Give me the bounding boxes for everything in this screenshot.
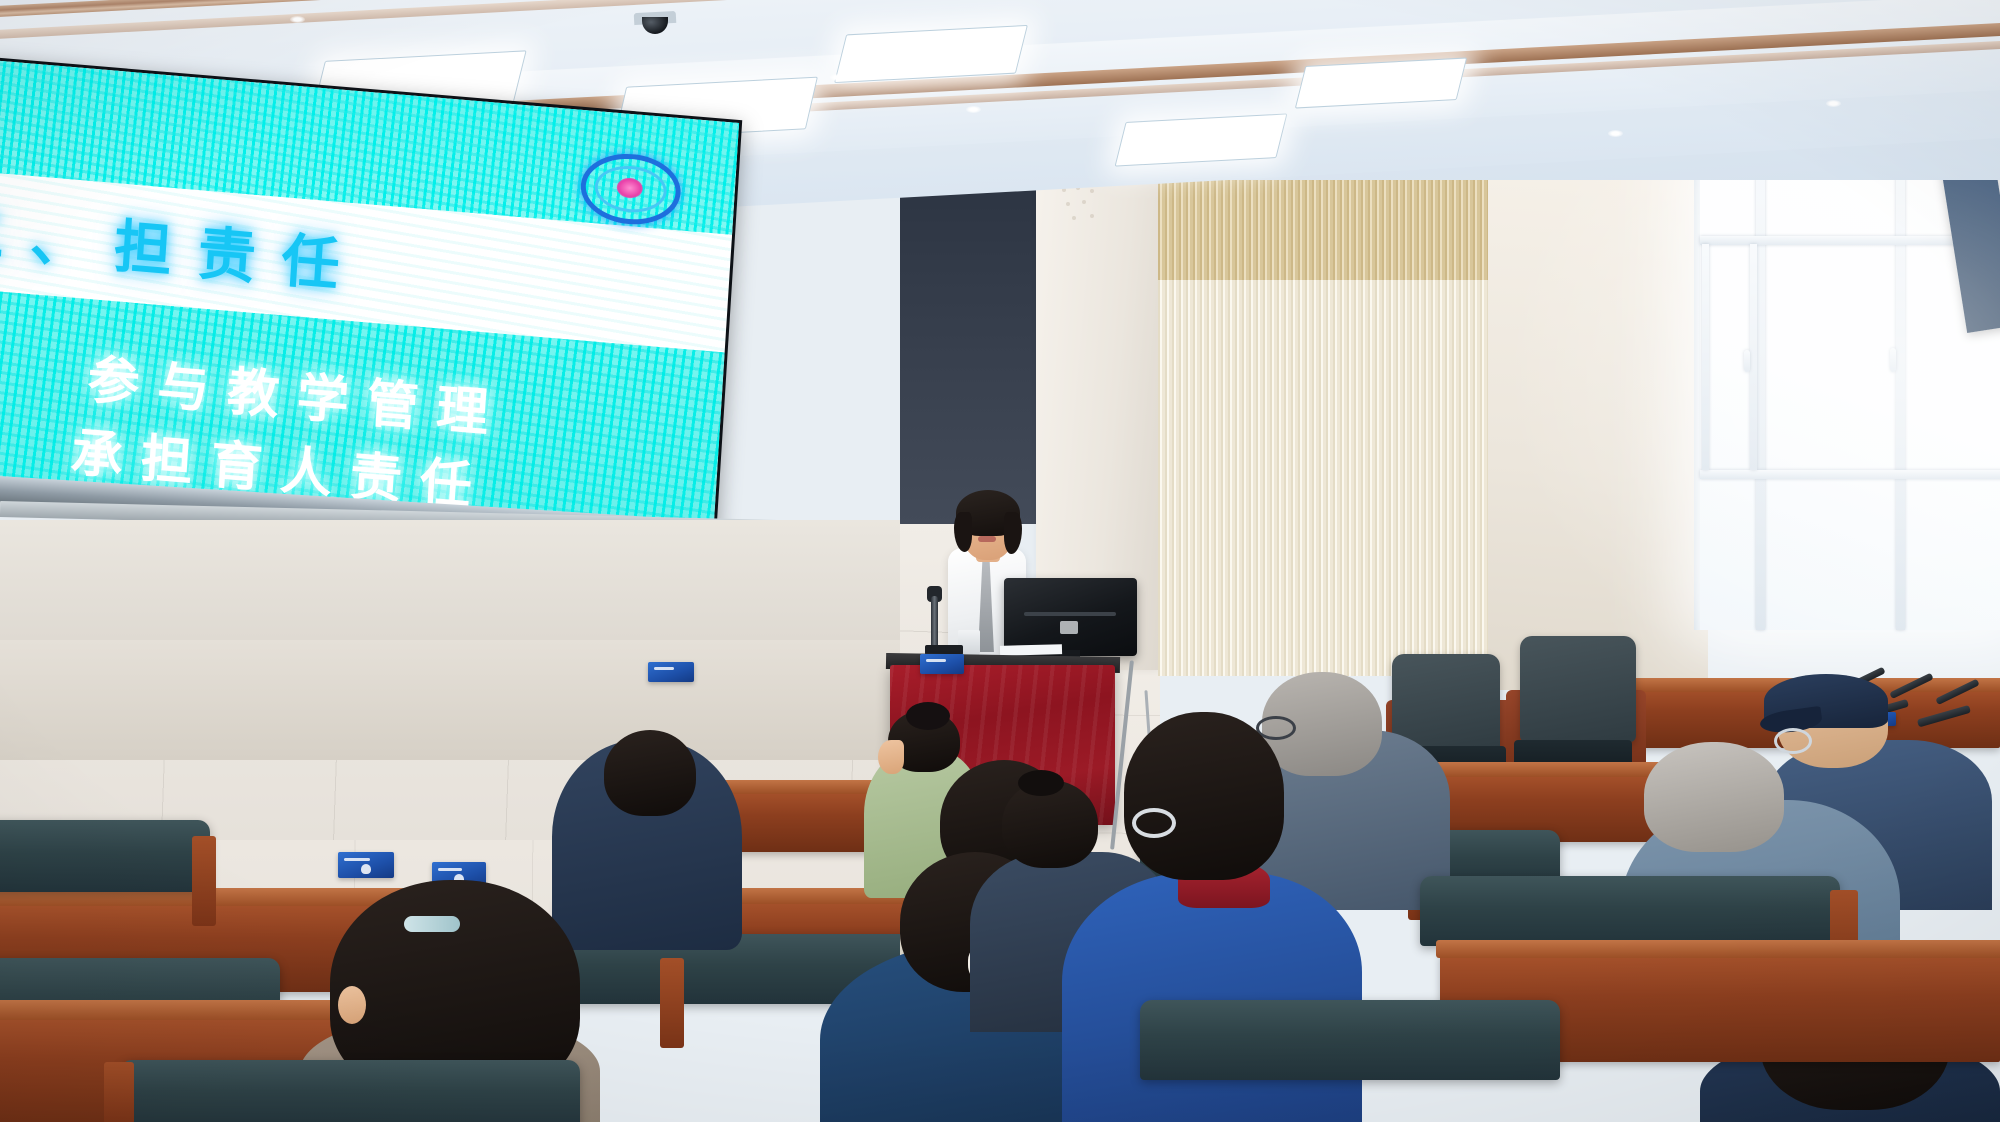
bench-seat-back bbox=[120, 1060, 580, 1122]
wood-slat-panel-lower bbox=[1158, 280, 1488, 676]
projected-slide: 二、担责任 参与教学管理 承担育人责任 bbox=[0, 60, 739, 546]
eyeglasses bbox=[1132, 808, 1176, 838]
seat-armrest bbox=[660, 958, 684, 1048]
window-handle[interactable] bbox=[1890, 348, 1896, 372]
attendee-head bbox=[1124, 712, 1284, 880]
speaker-mouth bbox=[978, 536, 996, 542]
seat-armrest bbox=[192, 836, 216, 926]
eyeglasses bbox=[1774, 728, 1812, 754]
speaker-hair-side-right bbox=[1004, 512, 1022, 554]
recessed-downlight bbox=[1826, 100, 1841, 107]
gooseneck-microphone-stem bbox=[931, 596, 938, 648]
table-top bbox=[1436, 940, 2000, 958]
right-wall-upper bbox=[1488, 130, 1708, 690]
window-mullion-horizontal bbox=[1700, 470, 2000, 479]
institution-emblem-icon bbox=[579, 150, 683, 228]
attendee-head bbox=[1644, 742, 1784, 852]
delegate-name-placard bbox=[920, 654, 964, 674]
speaker-notes bbox=[1000, 644, 1062, 656]
conference-room-photo: 二、担责任 参与教学管理 承担育人责任 bbox=[0, 0, 2000, 1122]
stage-wall bbox=[0, 520, 900, 660]
attendee-hair-bun bbox=[906, 702, 950, 730]
wall-recess-dark bbox=[900, 152, 1036, 524]
recessed-downlight bbox=[1196, 150, 1211, 157]
bench-seat-back bbox=[1140, 1000, 1560, 1080]
speaker-hair-side-left bbox=[954, 512, 972, 552]
window-sash-left bbox=[1702, 244, 1709, 470]
hair-bun bbox=[1018, 770, 1064, 796]
delegate-name-placard bbox=[648, 662, 694, 682]
bench-seat-back bbox=[1420, 876, 1840, 946]
attendee-head bbox=[604, 730, 696, 816]
window-handle[interactable] bbox=[1744, 350, 1750, 372]
attendee-ear bbox=[338, 986, 366, 1024]
recessed-downlight bbox=[966, 106, 981, 113]
recessed-downlight bbox=[830, 74, 845, 81]
monitor-vent bbox=[1024, 612, 1116, 616]
delegate-name-placard bbox=[338, 852, 394, 878]
window-sash-inner bbox=[1750, 244, 1757, 470]
stage-front-panel bbox=[0, 640, 900, 760]
executive-chair[interactable] bbox=[1520, 636, 1636, 742]
attendee-face bbox=[878, 740, 904, 774]
dome-security-camera bbox=[634, 12, 676, 34]
recessed-downlight bbox=[1608, 130, 1623, 137]
projection-screen: 二、担责任 参与教学管理 承担育人责任 bbox=[0, 57, 742, 550]
recessed-downlight bbox=[290, 16, 305, 23]
recessed-led-panel bbox=[834, 25, 1028, 83]
seat-armrest bbox=[104, 1062, 134, 1122]
monitor-brand-badge bbox=[1060, 621, 1078, 634]
window-mullion-vertical bbox=[1756, 150, 1765, 630]
hair-clip bbox=[404, 916, 460, 932]
window-mullion-vertical bbox=[1896, 150, 1905, 630]
camera-lens-dome bbox=[642, 17, 668, 34]
list-item bbox=[1062, 872, 1362, 1122]
bench-seat-back bbox=[0, 820, 210, 892]
pillar-marking-dots bbox=[1060, 186, 1104, 226]
recessed-led-panel bbox=[1115, 113, 1288, 166]
